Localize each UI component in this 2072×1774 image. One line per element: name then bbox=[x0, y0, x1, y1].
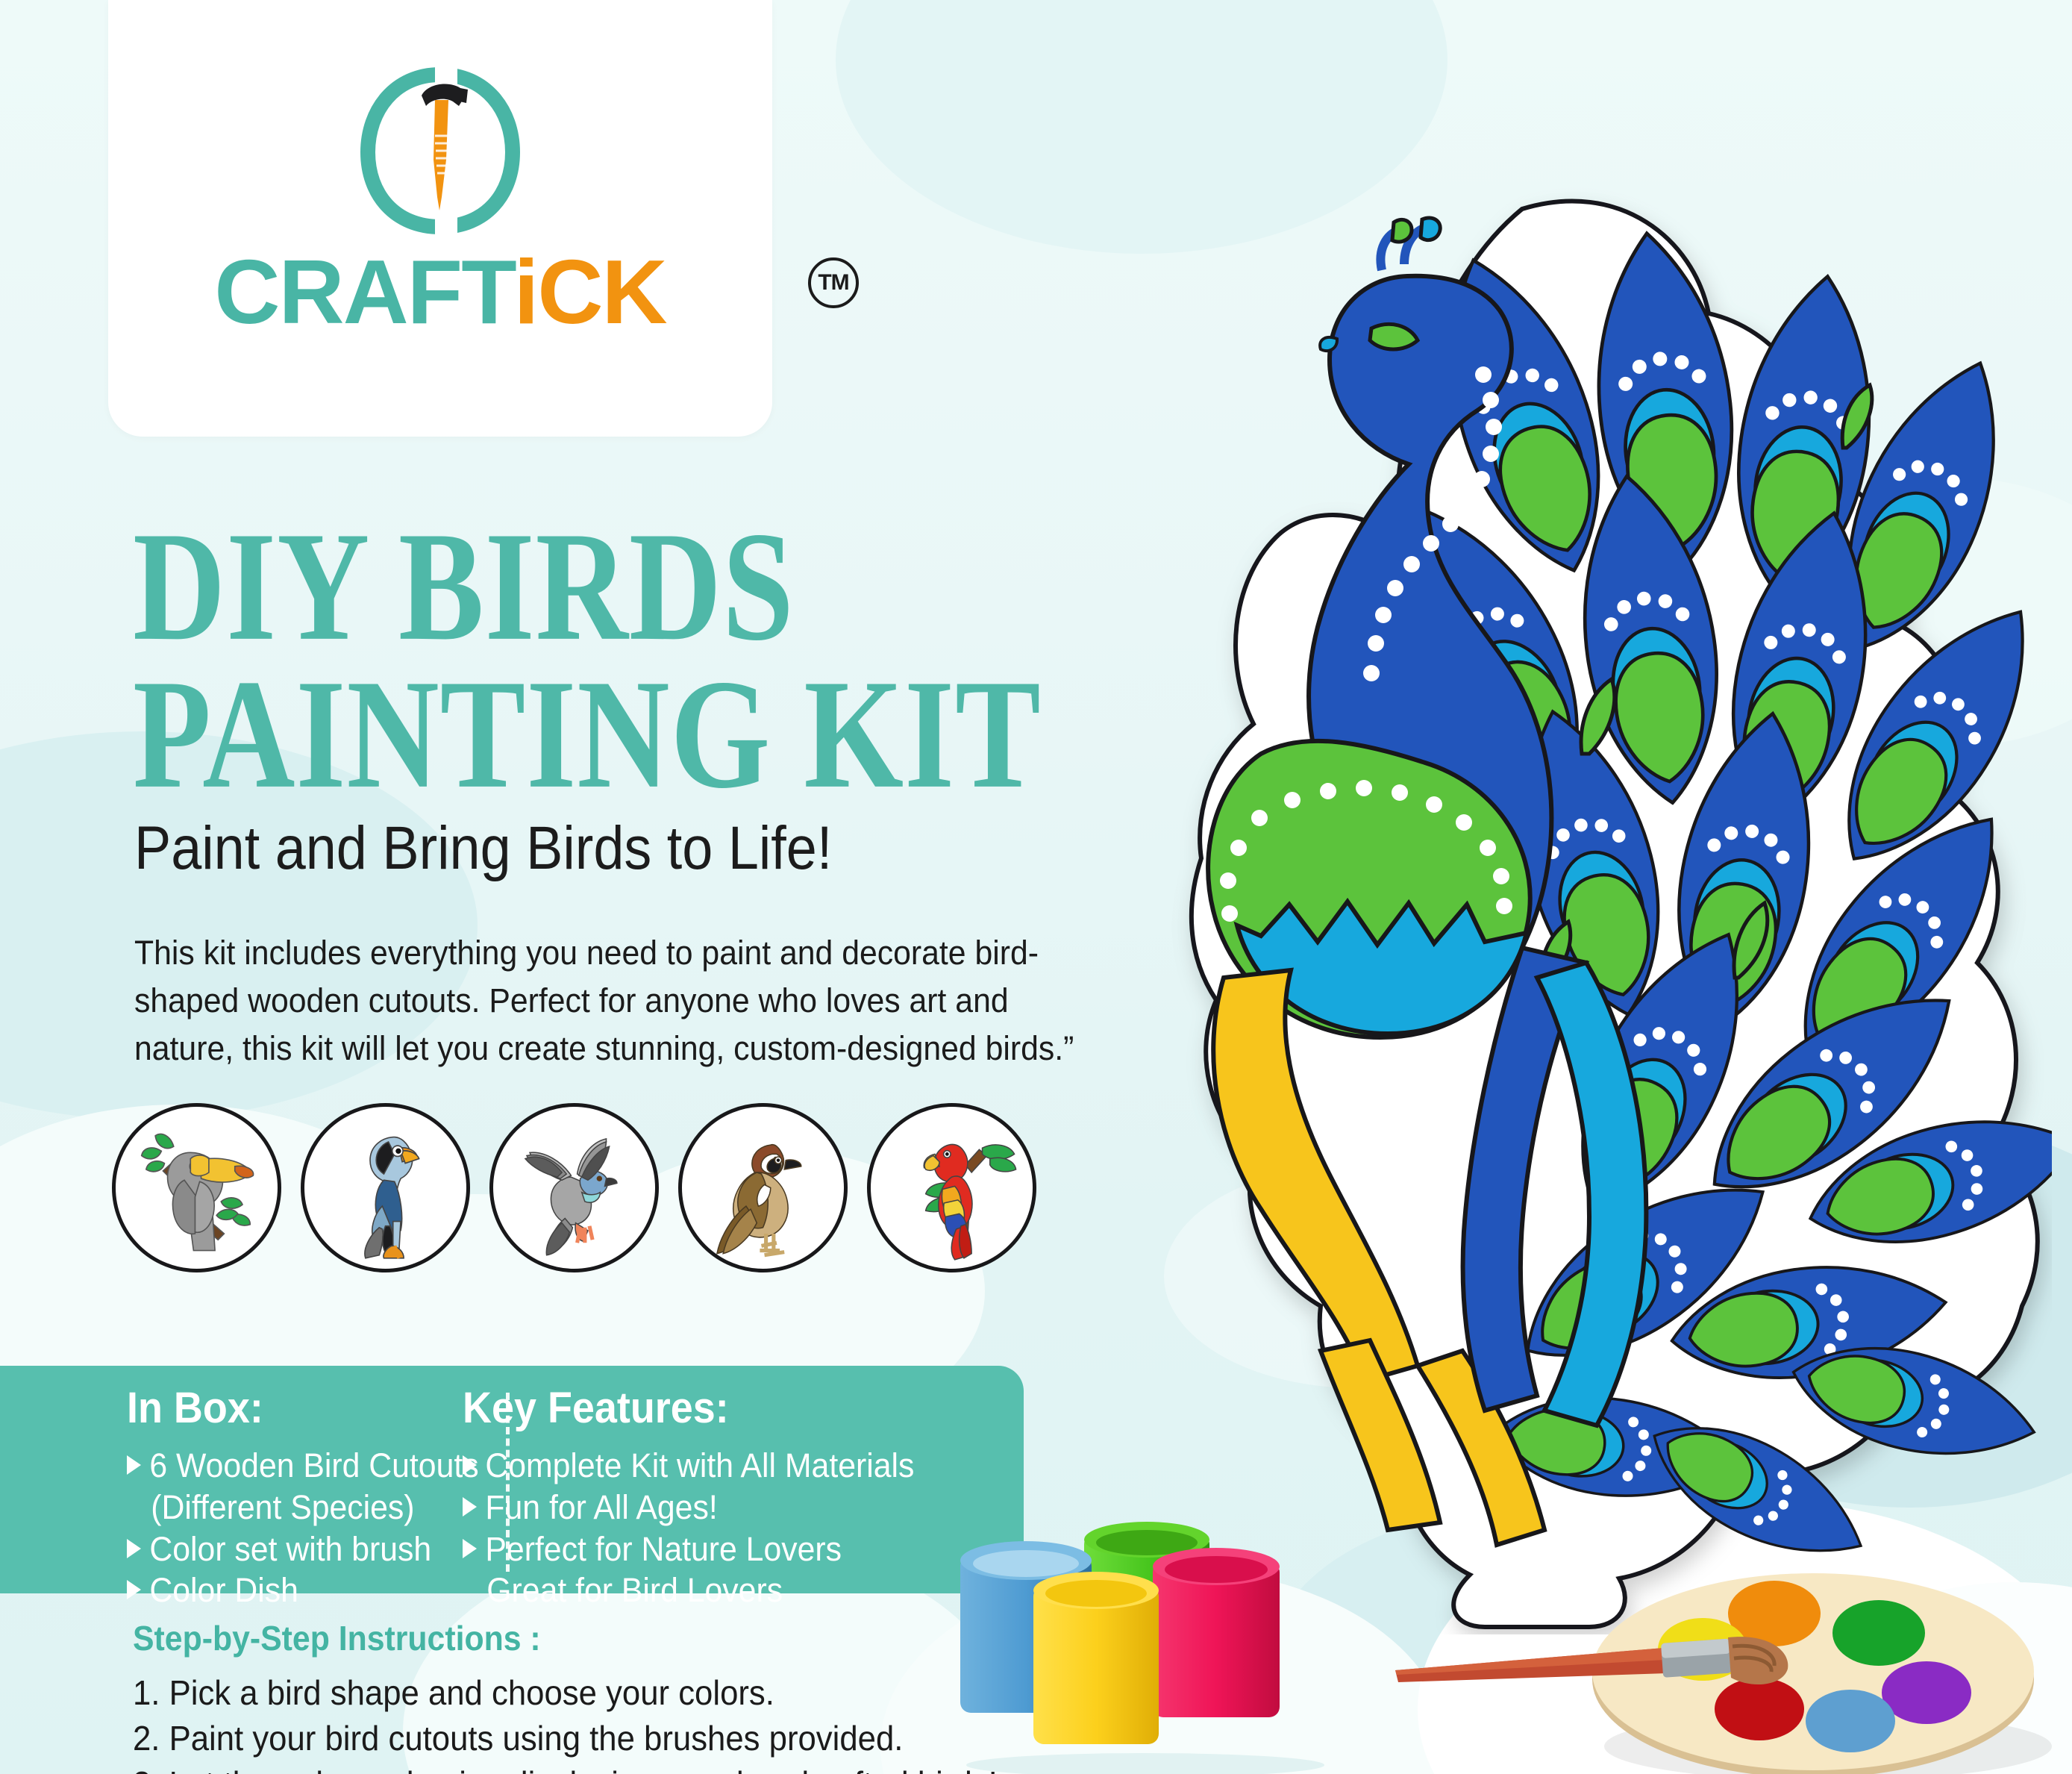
bird-species-row bbox=[112, 1103, 1036, 1272]
list-item: Fun for All Ages! bbox=[463, 1487, 991, 1528]
key-feature-3: Great for Bird Lovers bbox=[486, 1570, 783, 1611]
in-box-item-1: (Different Species) bbox=[151, 1487, 414, 1528]
list-item: Color Dish bbox=[127, 1570, 407, 1611]
in-box-list: 6 Wooden Bird Cutouts (Different Species… bbox=[127, 1445, 422, 1611]
in-box-item-2: Color set with brush bbox=[149, 1528, 431, 1570]
brand-logo-card: CRAFTiCK TM bbox=[108, 0, 772, 437]
bullet-triangle-icon bbox=[463, 1539, 477, 1558]
macaw-parrot-bird-icon bbox=[875, 1111, 1028, 1264]
paint-pot-pink bbox=[1153, 1548, 1280, 1717]
bullet-triangle-icon bbox=[127, 1580, 141, 1599]
sparrow-bird-icon bbox=[686, 1111, 839, 1264]
instruction-step-1: 1. Pick a bird shape and choose your col… bbox=[133, 1670, 998, 1716]
title-line-2: PAINTING KIT bbox=[133, 663, 1125, 808]
brand-wordmark: CRAFTiCK bbox=[108, 246, 772, 337]
key-feature-1: Fun for All Ages! bbox=[485, 1487, 717, 1528]
palette-well-green bbox=[1832, 1600, 1925, 1666]
instruction-step-2: 2. Paint your bird cutouts using the bru… bbox=[133, 1716, 998, 1761]
in-box-column: In Box: 6 Wooden Bird Cutouts (Different… bbox=[0, 1366, 422, 1593]
peacock-cutout-illustration bbox=[1171, 187, 2052, 1634]
page-title: DIY BIRDS PAINTING KIT bbox=[133, 515, 1125, 782]
bullet-triangle-icon bbox=[463, 1497, 477, 1517]
key-features-title: Key Features: bbox=[463, 1387, 980, 1430]
palette-well-blue bbox=[1806, 1690, 1895, 1752]
trademark-badge: TM bbox=[808, 257, 859, 308]
bullet-triangle-icon bbox=[463, 1455, 477, 1475]
bird-badge-toucan[interactable] bbox=[112, 1103, 281, 1272]
hammer-in-oval-icon bbox=[339, 64, 541, 236]
key-feature-0: Complete Kit with All Materials bbox=[485, 1445, 914, 1487]
toucan-bird-icon bbox=[120, 1111, 273, 1264]
bird-badge-sparrow[interactable] bbox=[678, 1103, 848, 1272]
palette-well-red bbox=[1715, 1678, 1804, 1740]
instructions-list: 1. Pick a bird shape and choose your col… bbox=[133, 1670, 1043, 1774]
bird-badge-blue-jay[interactable] bbox=[301, 1103, 470, 1272]
brand-name-part1: CRAFT bbox=[214, 241, 513, 343]
in-box-title: In Box: bbox=[127, 1387, 401, 1430]
list-item: Great for Bird Lovers bbox=[463, 1570, 991, 1611]
list-item: Complete Kit with All Materials bbox=[463, 1445, 991, 1487]
blue-jay-bird-icon bbox=[309, 1111, 462, 1264]
bird-badge-pigeon[interactable] bbox=[489, 1103, 659, 1272]
paint-palette-illustration bbox=[1365, 1560, 2067, 1774]
list-item: (Different Species) bbox=[127, 1487, 407, 1528]
flying-pigeon-bird-icon bbox=[498, 1111, 651, 1264]
bird-badge-macaw[interactable] bbox=[867, 1103, 1036, 1272]
bullet-triangle-icon bbox=[127, 1455, 141, 1475]
subtitle: Paint and Bring Birds to Life! bbox=[134, 813, 1074, 884]
feature-panel: In Box: 6 Wooden Bird Cutouts (Different… bbox=[0, 1366, 1024, 1593]
product-packaging-canvas: CRAFTiCK TM DIY BIRDS PAINTING KIT Paint… bbox=[0, 0, 2072, 1774]
brand-name-part2: iCK bbox=[514, 241, 666, 343]
list-item: Color set with brush bbox=[127, 1528, 407, 1570]
paint-pots-illustration bbox=[929, 1519, 1354, 1774]
instruction-step-3: 3. Let them dry and enjoy displaying you… bbox=[133, 1761, 998, 1774]
bullet-triangle-icon bbox=[127, 1539, 141, 1558]
key-feature-2: Perfect for Nature Lovers bbox=[485, 1528, 842, 1570]
list-item: 6 Wooden Bird Cutouts bbox=[127, 1445, 407, 1487]
list-item: Perfect for Nature Lovers bbox=[463, 1528, 991, 1570]
description-text: This kit includes everything you need to… bbox=[134, 929, 1077, 1072]
title-line-1: DIY BIRDS bbox=[133, 515, 1125, 660]
in-box-item-3: Color Dish bbox=[149, 1570, 298, 1611]
palette-well-purple bbox=[1882, 1661, 1971, 1724]
instructions-title: Step-by-Step Instructions : bbox=[133, 1618, 541, 1658]
paint-pot-yellow bbox=[1033, 1572, 1159, 1744]
